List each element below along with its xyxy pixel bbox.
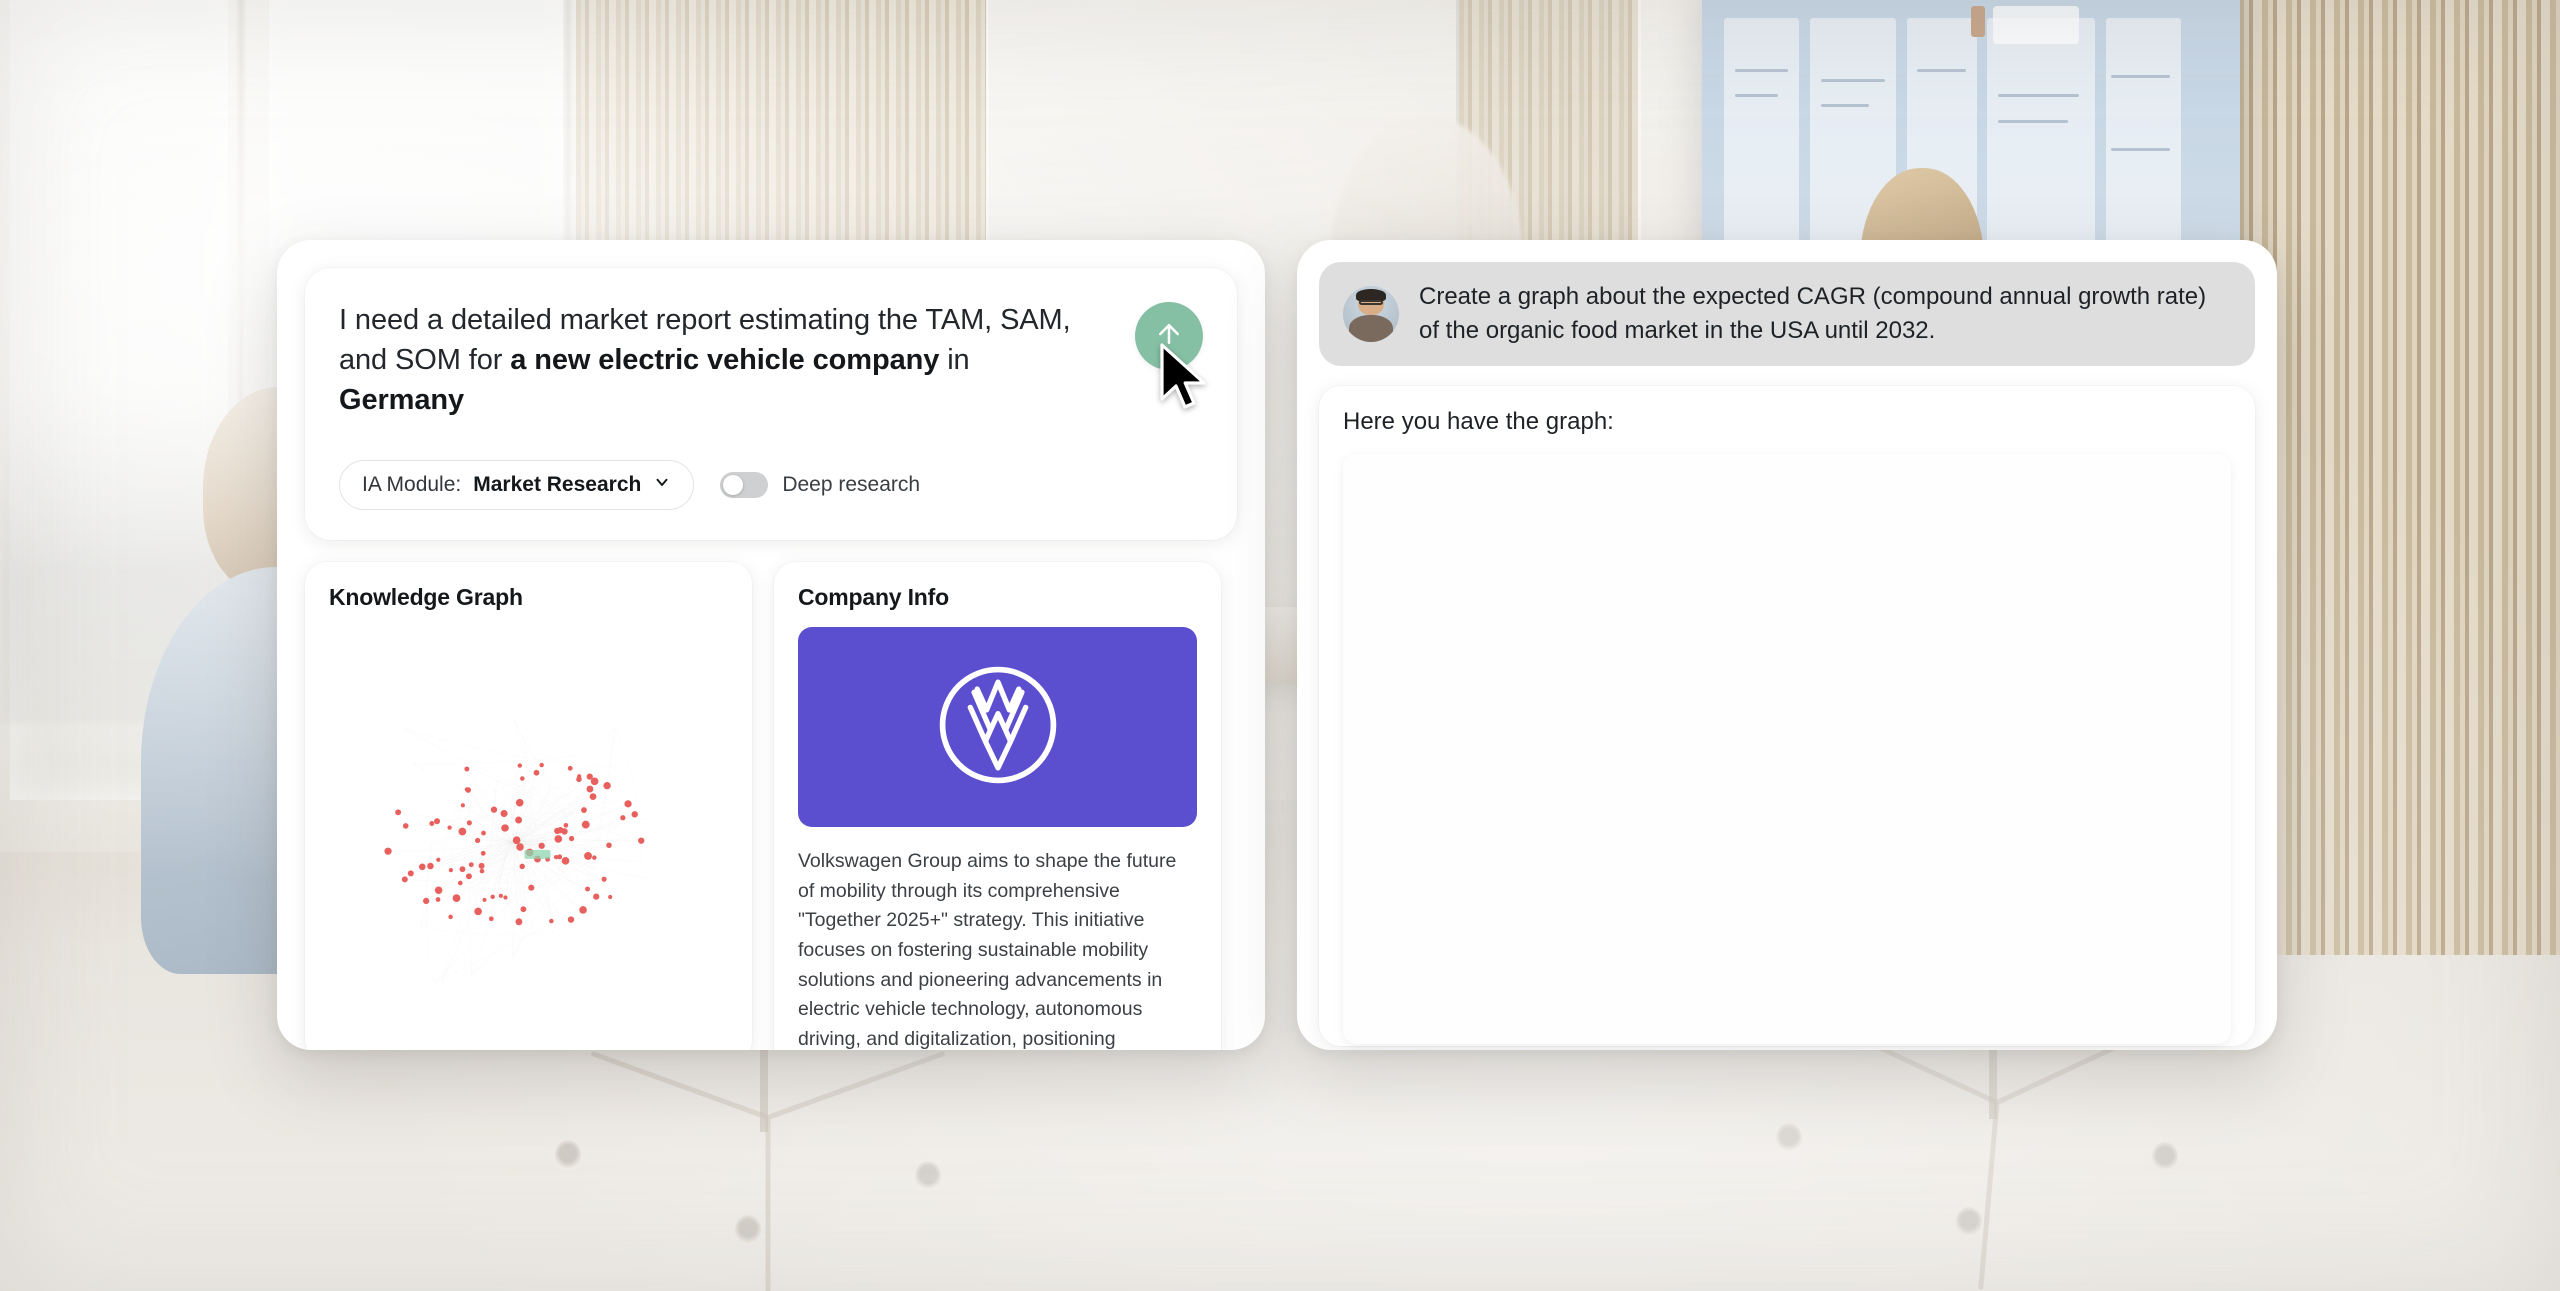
knowledge-graph-node[interactable] (449, 868, 453, 872)
knowledge-graph-node[interactable] (519, 864, 524, 869)
knowledge-graph-node[interactable] (490, 895, 494, 899)
knowledge-graph-node[interactable] (564, 823, 569, 828)
knowledge-graph-node[interactable] (491, 807, 497, 813)
knowledge-graph-node[interactable] (458, 881, 463, 886)
knowledge-graph-node[interactable] (474, 908, 482, 916)
knowledge-graph-node[interactable] (638, 838, 644, 844)
knowledge-graph-node[interactable] (584, 852, 592, 860)
knowledge-graph-node[interactable] (562, 857, 570, 865)
knowledge-graph-node[interactable] (561, 828, 567, 834)
knowledge-graph-node[interactable] (516, 843, 524, 851)
knowledge-graph-node[interactable] (539, 843, 545, 849)
left-app-panel: I need a detailed market report estimati… (277, 240, 1265, 1050)
knowledge-graph-node[interactable] (620, 815, 625, 820)
knowledge-graph-node[interactable] (434, 818, 440, 824)
knowledge-graph-node[interactable] (465, 787, 469, 791)
company-info-title: Company Info (798, 584, 1197, 611)
knowledge-graph-node[interactable] (402, 876, 408, 882)
knowledge-graph-node[interactable] (520, 776, 525, 781)
company-description: Volkswagen Group aims to shape the futur… (798, 847, 1197, 1050)
knowledge-graph-node[interactable] (515, 817, 522, 824)
knowledge-graph-node[interactable] (467, 820, 472, 825)
knowledge-graph-node[interactable] (436, 897, 441, 902)
assistant-message-text: Here you have the graph: (1343, 408, 2231, 436)
knowledge-graph-node[interactable] (475, 838, 480, 843)
knowledge-graph-node[interactable] (436, 858, 440, 862)
knowledge-graph-node[interactable] (579, 906, 587, 914)
toggle-knob (723, 475, 743, 495)
deep-research-toggle-wrap[interactable]: Deep research (720, 472, 920, 498)
knowledge-graph-node[interactable] (591, 778, 599, 786)
knowledge-graph-node[interactable] (503, 895, 507, 899)
knowledge-graph-node[interactable] (384, 848, 391, 855)
deep-research-label: Deep research (782, 473, 920, 497)
assistant-answer-card: Here you have the graph: (1319, 386, 2255, 1046)
knowledge-graph-node[interactable] (419, 864, 426, 871)
knowledge-graph-node[interactable] (469, 862, 474, 867)
knowledge-graph-node[interactable] (481, 831, 486, 836)
knowledge-graph-node[interactable] (481, 851, 486, 856)
knowledge-graph-node[interactable] (528, 885, 534, 891)
knowledge-graph-node[interactable] (515, 918, 522, 925)
knowledge-graph-node[interactable] (602, 877, 607, 882)
knowledge-graph-node[interactable] (479, 863, 485, 869)
knowledge-graph-node[interactable] (516, 799, 524, 807)
knowledge-graph-node[interactable] (464, 767, 469, 772)
chart-card[interactable] (1343, 454, 2231, 1044)
knowledge-graph-node[interactable] (593, 894, 599, 900)
knowledge-graph-node[interactable] (408, 870, 414, 876)
knowledge-graph-node[interactable] (480, 869, 485, 874)
knowledge-graph-node[interactable] (603, 782, 610, 789)
knowledge-graph-node[interactable] (458, 828, 466, 836)
knowledge-graph-node[interactable] (513, 836, 521, 844)
knowledge-graph-node[interactable] (499, 894, 503, 898)
knowledge-graph-node[interactable] (592, 855, 597, 860)
chevron-down-icon (653, 473, 671, 497)
knowledge-graph-node[interactable] (520, 906, 526, 912)
knowledge-graph-node[interactable] (403, 823, 409, 829)
knowledge-graph-node[interactable] (606, 843, 612, 849)
send-button[interactable] (1135, 302, 1203, 370)
prompt-controls: IA Module: Market Research Deep research (339, 460, 1203, 510)
knowledge-graph-node[interactable] (448, 915, 452, 919)
knowledge-graph-node[interactable] (585, 887, 590, 892)
result-cards-row: Knowledge Graph Company Info (305, 562, 1237, 1050)
deep-research-toggle[interactable] (720, 472, 768, 498)
knowledge-graph-node[interactable] (423, 898, 429, 904)
company-logo-box (798, 627, 1197, 827)
prompt-segment-4: Germany (339, 384, 464, 416)
knowledge-graph-node[interactable] (590, 793, 597, 800)
user-message-bubble: Create a graph about the expected CAGR (… (1319, 262, 2255, 366)
knowledge-graph-node[interactable] (453, 894, 461, 902)
knowledge-graph-card[interactable]: Knowledge Graph (305, 562, 752, 1050)
user-avatar (1343, 286, 1399, 342)
knowledge-graph-node[interactable] (518, 763, 522, 767)
prompt-segment-2: a new electric vehicle company (510, 344, 939, 376)
knowledge-graph-node[interactable] (483, 898, 487, 902)
knowledge-graph-node[interactable] (568, 766, 573, 771)
knowledge-graph-node[interactable] (624, 800, 631, 807)
knowledge-graph-node[interactable] (539, 763, 543, 767)
knowledge-graph-canvas[interactable] (329, 617, 728, 1037)
knowledge-graph-node[interactable] (568, 916, 574, 922)
prompt-text[interactable]: I need a detailed market report estimati… (339, 300, 1099, 420)
knowledge-graph-node[interactable] (581, 807, 587, 813)
knowledge-graph-node[interactable] (489, 916, 494, 921)
knowledge-graph-node[interactable] (435, 887, 443, 895)
knowledge-graph-node[interactable] (395, 809, 401, 815)
right-chat-panel: Create a graph about the expected CAGR (… (1297, 240, 2277, 1050)
knowledge-graph-node[interactable] (549, 919, 554, 924)
ia-module-select[interactable]: IA Module: Market Research (339, 460, 694, 510)
knowledge-graph-title: Knowledge Graph (329, 584, 728, 611)
knowledge-graph-node[interactable] (554, 855, 558, 859)
user-message-text: Create a graph about the expected CAGR (… (1419, 280, 2231, 348)
knowledge-graph-node[interactable] (461, 803, 465, 807)
knowledge-graph-node[interactable] (427, 863, 434, 870)
arrow-up-icon (1154, 319, 1184, 354)
knowledge-graph-node[interactable] (502, 811, 507, 816)
organic-foods-market-bar-chart (1359, 464, 2215, 1036)
prompt-card[interactable]: I need a detailed market report estimati… (305, 268, 1237, 540)
knowledge-graph-node[interactable] (460, 866, 466, 872)
module-value-label: Market Research (473, 473, 641, 497)
company-info-card[interactable]: Company Info Volkswagen Group aims to sh… (774, 562, 1221, 1050)
knowledge-graph-node[interactable] (569, 836, 574, 841)
knowledge-graph-highlight (525, 850, 551, 859)
knowledge-graph-node[interactable] (554, 828, 560, 834)
knowledge-graph-node[interactable] (577, 774, 581, 778)
knowledge-graph-node[interactable] (466, 873, 472, 879)
knowledge-graph-node[interactable] (608, 895, 612, 899)
knowledge-graph-node[interactable] (447, 826, 451, 830)
knowledge-graph-node[interactable] (534, 770, 540, 776)
volkswagen-logo (935, 662, 1061, 793)
knowledge-graph-node[interactable] (582, 821, 590, 829)
knowledge-graph-node[interactable] (429, 821, 434, 826)
knowledge-graph-node[interactable] (555, 835, 563, 843)
chair-base-left (563, 1033, 973, 1240)
knowledge-graph-node[interactable] (632, 811, 638, 817)
prompt-segment-3: in (939, 344, 969, 376)
knowledge-graph-node[interactable] (587, 786, 594, 793)
knowledge-graph-svg (329, 617, 728, 1037)
module-prefix-label: IA Module: (362, 473, 461, 497)
knowledge-graph-node[interactable] (501, 824, 508, 831)
